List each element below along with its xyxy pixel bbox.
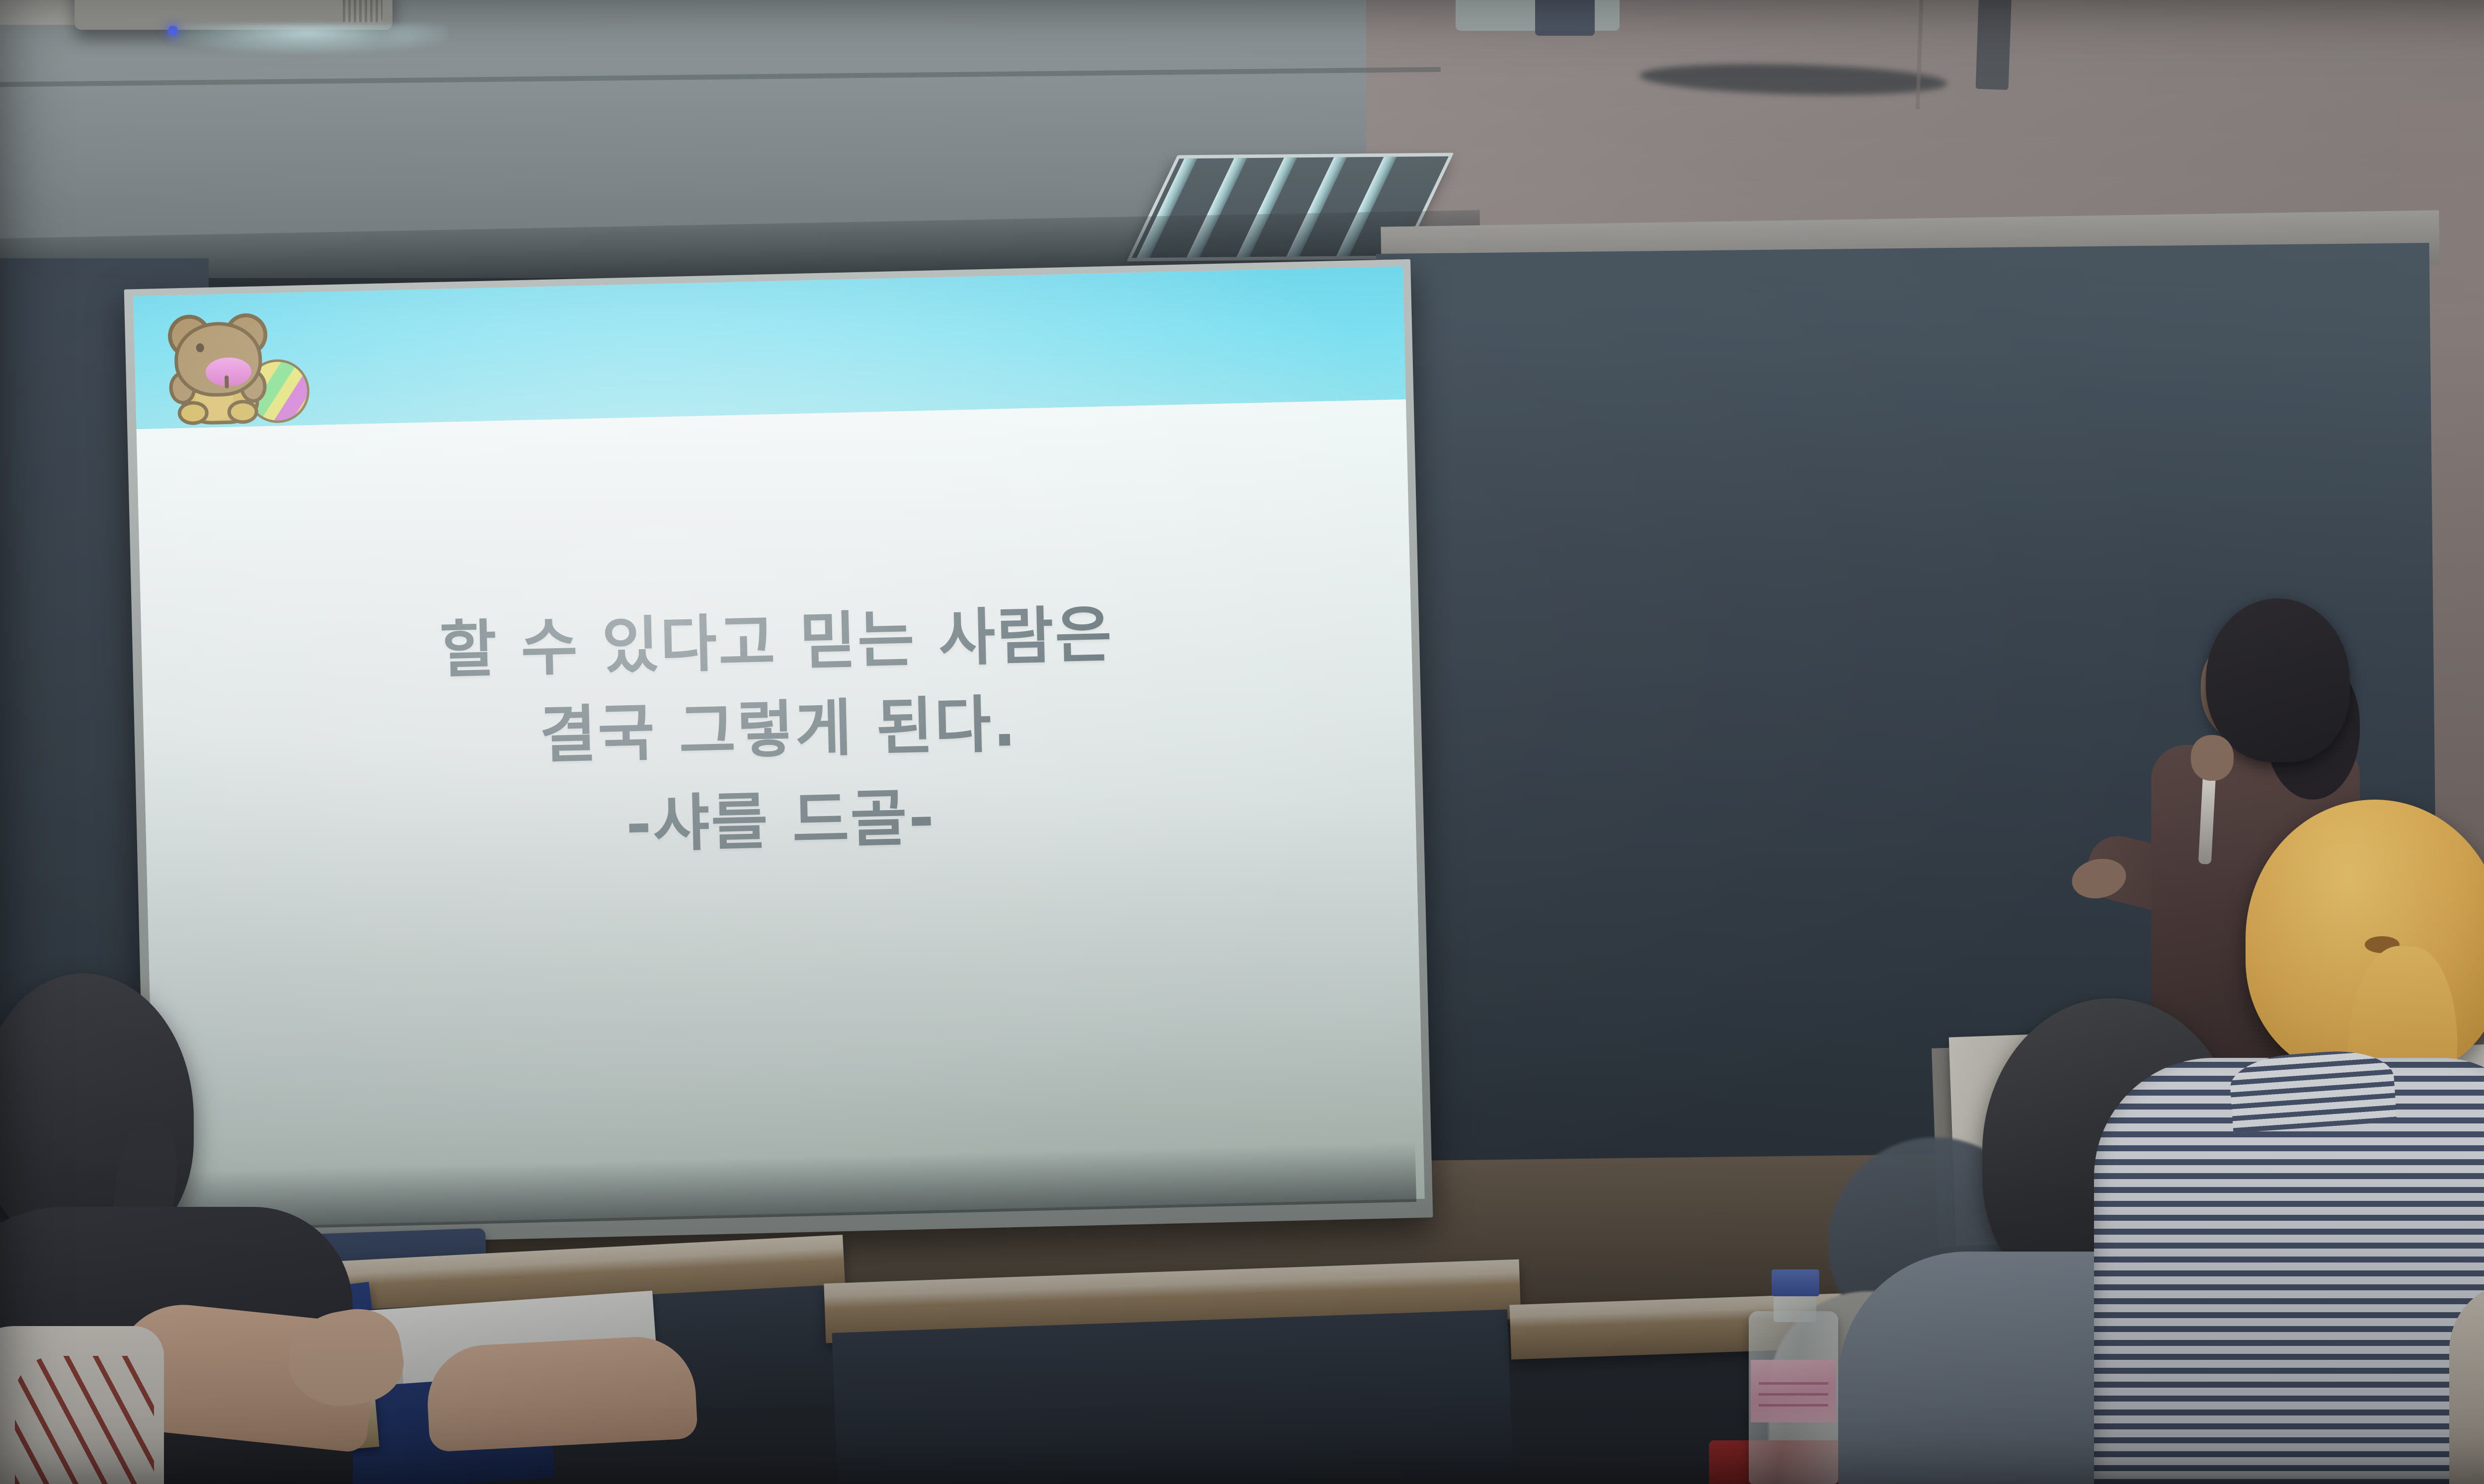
presenter-hair <box>2206 598 2350 762</box>
projector-power-led <box>168 26 178 36</box>
sleeve-pattern <box>15 1356 154 1484</box>
ceiling-slot-vent <box>1976 0 2012 90</box>
presenter-hand-holding-mic <box>2191 735 2234 781</box>
ceiling-fixture-right-dark <box>1535 0 1595 36</box>
presentation-slide: 할 수 있다고 믿는 사람은 결국 그렇게 된다. -샤를 드골- <box>133 266 1425 1229</box>
desk-front-panel <box>832 1309 1513 1484</box>
teddy-bear-icon <box>164 310 316 425</box>
bottle-label-text-lines <box>1759 1377 1828 1407</box>
ceiling-right-section <box>1366 0 2484 233</box>
projector-vent-grille <box>343 0 383 22</box>
slide-quote-text: 할 수 있다고 믿는 사람은 결국 그렇게 된다. -샤를 드골- <box>141 584 1416 880</box>
quote-line-2: 결국 그렇게 된다. <box>539 689 1018 772</box>
bottle-cap <box>1772 1269 1819 1296</box>
quote-line-1: 할 수 있다고 믿는 사람은 <box>439 599 1114 686</box>
second-student-arm <box>425 1334 698 1452</box>
projection-screen: 할 수 있다고 믿는 사람은 결국 그렇게 된다. -샤를 드골- <box>133 266 1425 1229</box>
lecture-hall-photo: 할 수 있다고 믿는 사람은 결국 그렇게 된다. -샤를 드골- <box>0 0 2484 1484</box>
projector-light-glow <box>169 24 447 54</box>
